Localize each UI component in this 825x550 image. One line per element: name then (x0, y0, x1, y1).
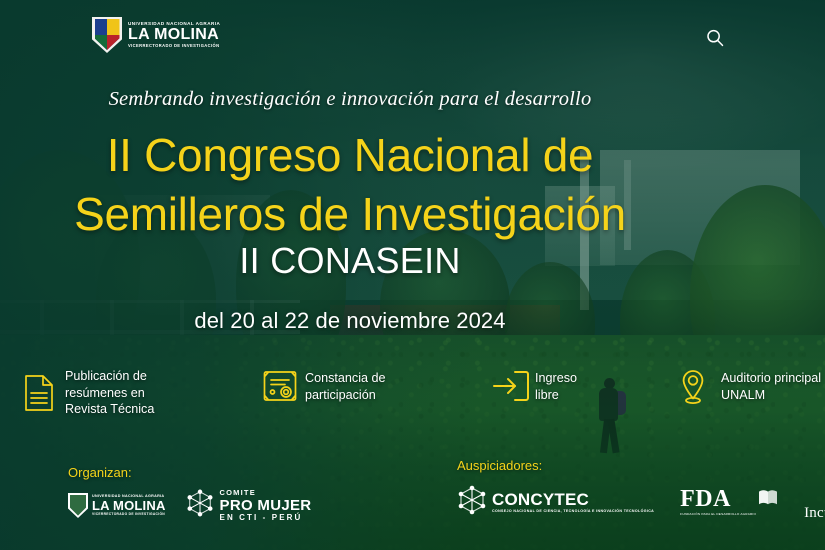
sponsors-block: Auspiciadores: (457, 458, 825, 522)
location-pin-icon (678, 368, 712, 406)
organizers-block: Organizan: UNIVERSIDAD NACIONAL AGRARIA … (68, 465, 311, 522)
document-icon (22, 374, 56, 412)
unalm-logo[interactable]: UNIVERSIDAD NACIONAL AGRARIA LA MOLINA V… (92, 17, 220, 53)
unalm-crest-icon (68, 493, 88, 518)
logo-line-2: FUNDACIÓN PARA EL DESARROLLO AGRARIO (680, 513, 756, 516)
logo-line-1: CONCYTEC (492, 491, 654, 508)
feature-certificate: Constancia de participación (262, 368, 386, 406)
feature-publication: Publicación de resúmenes en Revista Técn… (22, 368, 154, 418)
concytec-logo[interactable]: CONCYTEC CONSEJO NACIONAL DE CIENCIA, TE… (457, 485, 654, 520)
logo-line-3: VICERRECTORADO DE INVESTIGACIÓN (92, 513, 166, 516)
fda-logo[interactable]: FDA FUNDACIÓN PARA EL DESARROLLO AGRARIO (680, 487, 778, 516)
hero-subtitle: II CONASEIN (0, 240, 700, 282)
feature-label: Ingreso libre (535, 370, 577, 403)
unalm-logo-footer[interactable]: UNIVERSIDAD NACIONAL AGRARIA LA MOLINA V… (68, 493, 166, 518)
logo-line-1: FDA (680, 487, 756, 511)
unalm-crest-icon (92, 17, 122, 53)
logo-line-3: VICERRECTORADO DE INVESTIGACIÓN (128, 44, 220, 48)
logo-line-3: EN CTI - PERÚ (220, 514, 312, 522)
comite-pro-mujer-logo[interactable]: COMITE PRO MUJER EN CTI - PERÚ (186, 489, 312, 522)
logo-line-2: CONSEJO NACIONAL DE CIENCIA, TECNOLOGÍA … (492, 510, 654, 514)
feature-label: Publicación de resúmenes en Revista Técn… (65, 368, 154, 418)
hero-title: II Congreso Nacional de Semilleros de In… (0, 126, 700, 244)
network-nodes-icon (457, 485, 487, 520)
page-footer: Organizan: UNIVERSIDAD NACIONAL AGRARIA … (0, 450, 825, 550)
logo-line-2: LA MOLINA (92, 499, 166, 512)
logo-line-2: LA MOLINA (128, 27, 220, 43)
logo-line-1: Incubagraria (804, 505, 825, 522)
hero-title-line-1: II Congreso Nacional de (0, 126, 700, 185)
hero-title-line-2: Semilleros de Investigación (0, 185, 700, 244)
network-nodes-icon (186, 489, 214, 522)
hero-tagline: Sembrando investigación e innovación par… (0, 88, 700, 111)
page-header: UNIVERSIDAD NACIONAL AGRARIA LA MOLINA V… (0, 0, 825, 75)
organizers-heading: Organizan: (68, 465, 311, 480)
search-icon[interactable] (705, 28, 725, 48)
logo-line-2: PRO MUJER (220, 498, 312, 513)
incubagraria-logo[interactable]: Incubagraria (804, 482, 825, 522)
certificate-icon (262, 368, 296, 406)
open-book-icon (758, 488, 778, 511)
event-dates: del 20 al 22 de noviembre 2024 (0, 308, 700, 334)
sponsors-heading: Auspiciadores: (457, 458, 825, 473)
feature-label: Constancia de participación (305, 370, 386, 403)
feature-label: Auditorio principal UNALM (721, 370, 821, 403)
logo-line-1: COMITE (220, 489, 312, 497)
feature-venue: Auditorio principal UNALM (678, 368, 821, 406)
features-row: Publicación de resúmenes en Revista Técn… (0, 368, 825, 424)
feature-free-entry: Ingreso libre (492, 368, 577, 406)
login-arrow-icon (492, 368, 526, 406)
